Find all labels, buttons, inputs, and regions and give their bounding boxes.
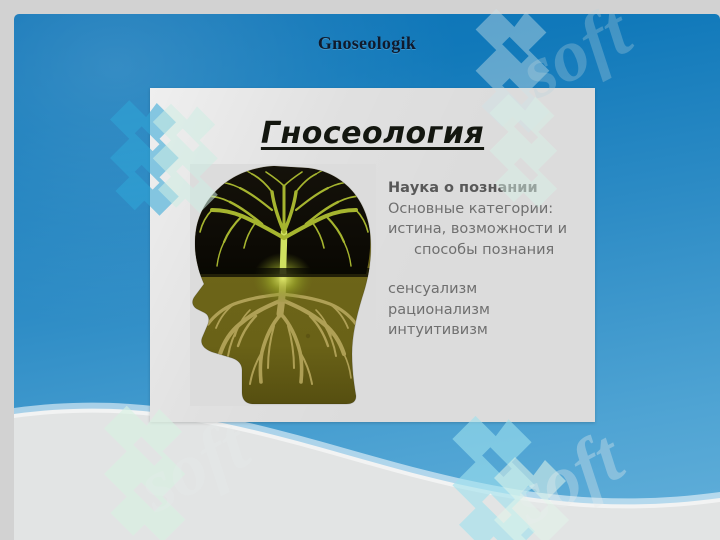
- text-line: сенсуализм: [388, 279, 595, 300]
- text-line: рационализм: [388, 300, 595, 321]
- screenshot-stage: Gnoseologik Гносеология: [0, 0, 720, 540]
- presentation-slide: Gnoseologik Гносеология: [14, 14, 720, 540]
- head-with-tree-and-roots-illustration: [190, 164, 376, 406]
- text-line: способы познания: [388, 240, 595, 261]
- panel-text-column: Наука о познании Основные категории: ист…: [388, 178, 595, 341]
- text-line: Наука о познании: [388, 178, 595, 199]
- content-panel: Гносеология: [150, 88, 595, 422]
- slide-title: Gnoseologik: [14, 33, 720, 54]
- text-line: истина, возможности и: [388, 219, 595, 240]
- text-spacer: [388, 260, 595, 279]
- panel-heading: Гносеология: [150, 116, 595, 151]
- text-line: Основные категории:: [388, 199, 595, 220]
- text-line: интуитивизм: [388, 320, 595, 341]
